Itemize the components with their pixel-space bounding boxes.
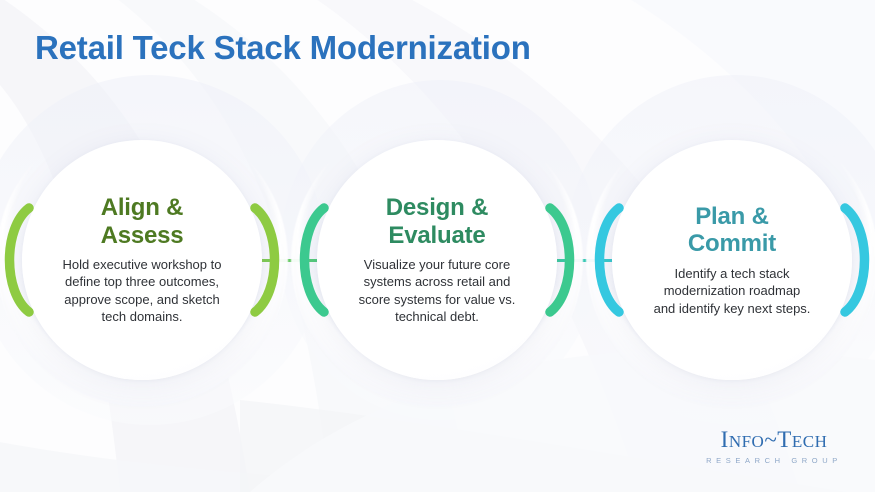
step-heading-line-2: Commit — [688, 230, 776, 257]
logo-wordmark: INFO~TECH — [694, 428, 854, 451]
step-heading-line-2: Assess — [101, 222, 184, 249]
process-diagram: Align & Assess Hold executive workshop t… — [0, 0, 875, 492]
step-heading-line-1: Design & — [386, 194, 488, 221]
logo-text-nfo: NFO — [729, 432, 765, 451]
step-text-block: Plan & Commit Identify a tech stack mode… — [618, 140, 846, 380]
process-step-2[interactable]: Design & Evaluate Visualize your future … — [317, 140, 557, 380]
step-heading: Align & Assess — [101, 194, 184, 249]
step-heading-line-1: Align & — [101, 194, 184, 221]
logo-text-ech: ECH — [792, 432, 828, 451]
step-heading: Plan & Commit — [688, 203, 776, 258]
slide-canvas: Retail Teck Stack Modernization A — [0, 0, 875, 492]
logo-subtitle: RESEARCH GROUP — [694, 456, 854, 465]
step-text-block: Design & Evaluate Visualize your future … — [323, 140, 551, 380]
step-heading-line-1: Plan & — [695, 203, 768, 230]
step-description: Hold executive workshop to define top th… — [58, 256, 226, 326]
logo-letter-i: I — [721, 427, 729, 452]
process-step-3[interactable]: Plan & Commit Identify a tech stack mode… — [612, 140, 852, 380]
info-tech-logo: INFO~TECH RESEARCH GROUP — [694, 428, 854, 465]
step-description: Identify a tech stack modernization road… — [652, 265, 812, 317]
logo-letter-t: T — [777, 427, 792, 452]
step-text-block: Align & Assess Hold executive workshop t… — [28, 140, 256, 380]
process-step-1[interactable]: Align & Assess Hold executive workshop t… — [22, 140, 262, 380]
step-heading-line-2: Evaluate — [388, 222, 485, 249]
step-description: Visualize your future core systems acros… — [357, 256, 517, 326]
step-heading: Design & Evaluate — [386, 194, 488, 249]
logo-tilde: ~ — [764, 427, 777, 452]
